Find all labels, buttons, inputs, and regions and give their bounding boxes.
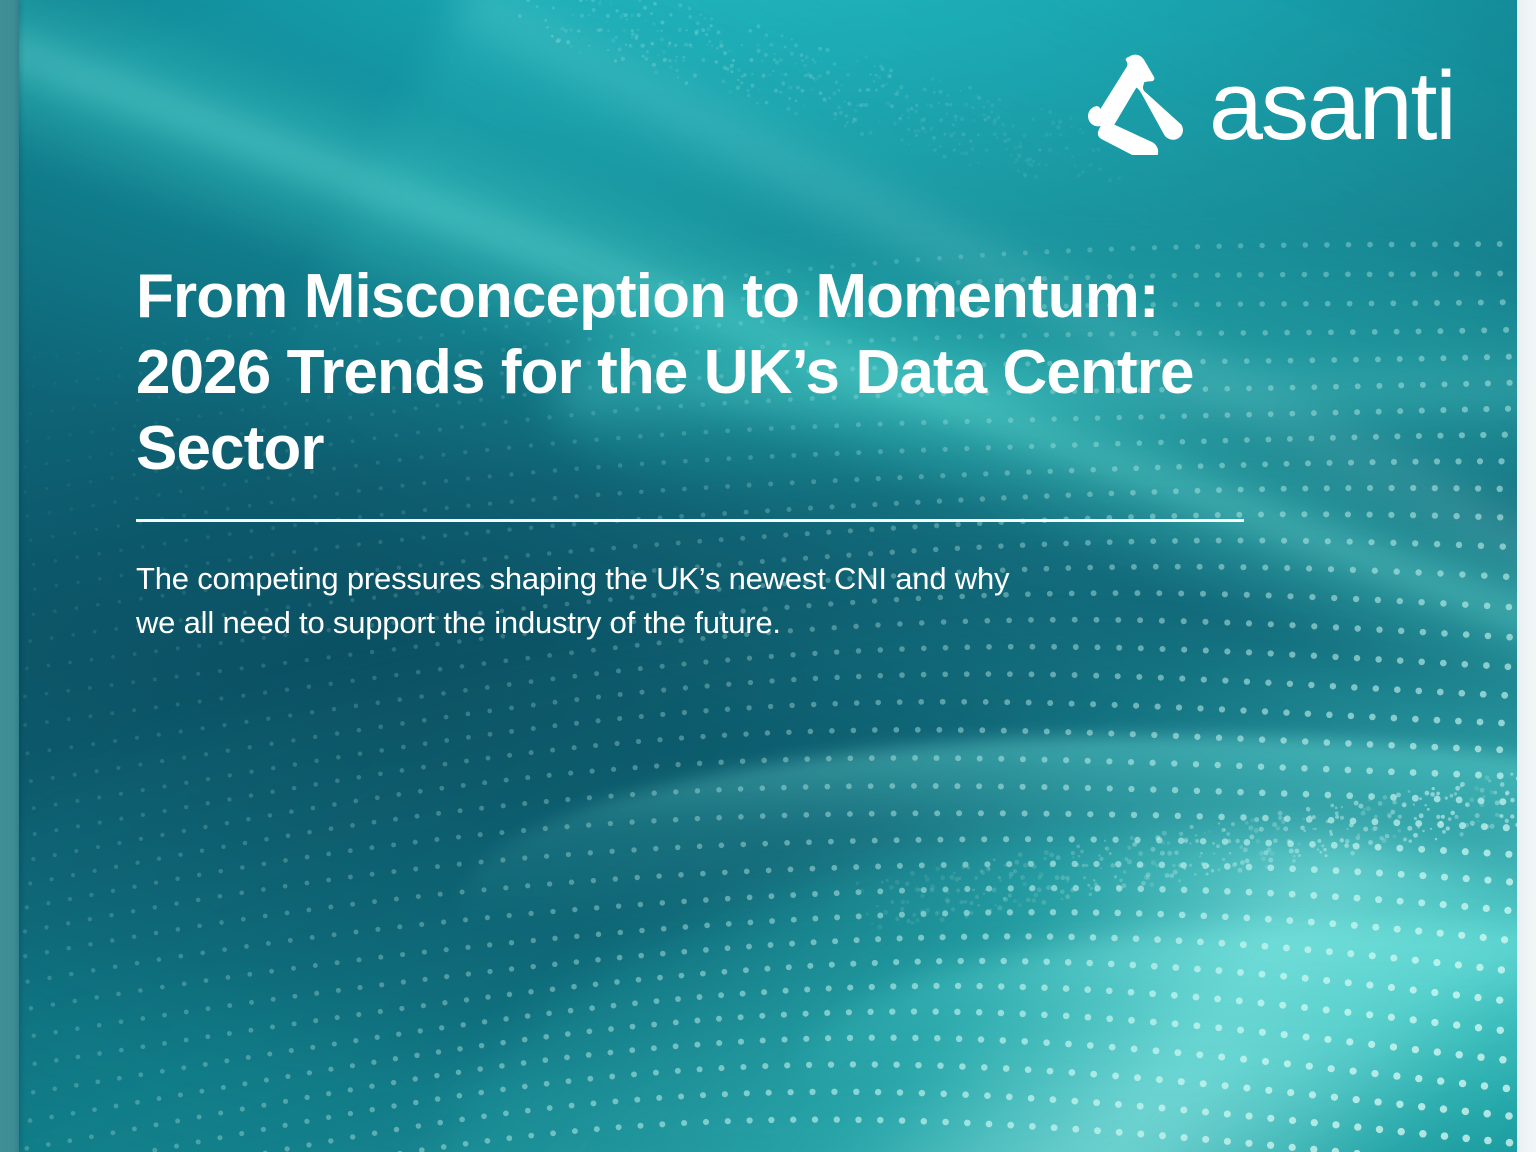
page-subtitle: The competing pressures shaping the UK’s… bbox=[136, 557, 1196, 645]
title-line-2: 2026 Trends for the UK’s Data Centre bbox=[136, 338, 1194, 407]
asanti-triangle-logo-icon bbox=[1079, 51, 1191, 155]
page-edge-left bbox=[0, 0, 19, 1152]
asanti-logo[interactable]: asanti bbox=[1079, 48, 1462, 158]
page-edge-right bbox=[1517, 0, 1536, 1152]
title-divider bbox=[136, 519, 1244, 522]
page-title: From Misconception to Momentum: 2026 Tre… bbox=[136, 259, 1232, 487]
asanti-wordmark: asanti bbox=[1209, 57, 1455, 154]
subtitle-line-1: The competing pressures shaping the UK’s… bbox=[136, 561, 1009, 596]
cover-content: asanti From Misconception to Momentum: 2… bbox=[136, 0, 1246, 1152]
title-line-3: Sector bbox=[136, 414, 324, 483]
report-cover-page: asanti From Misconception to Momentum: 2… bbox=[0, 0, 1536, 1152]
title-line-1: From Misconception to Momentum: bbox=[136, 262, 1159, 331]
subtitle-line-2: we all need to support the industry of t… bbox=[136, 605, 781, 640]
